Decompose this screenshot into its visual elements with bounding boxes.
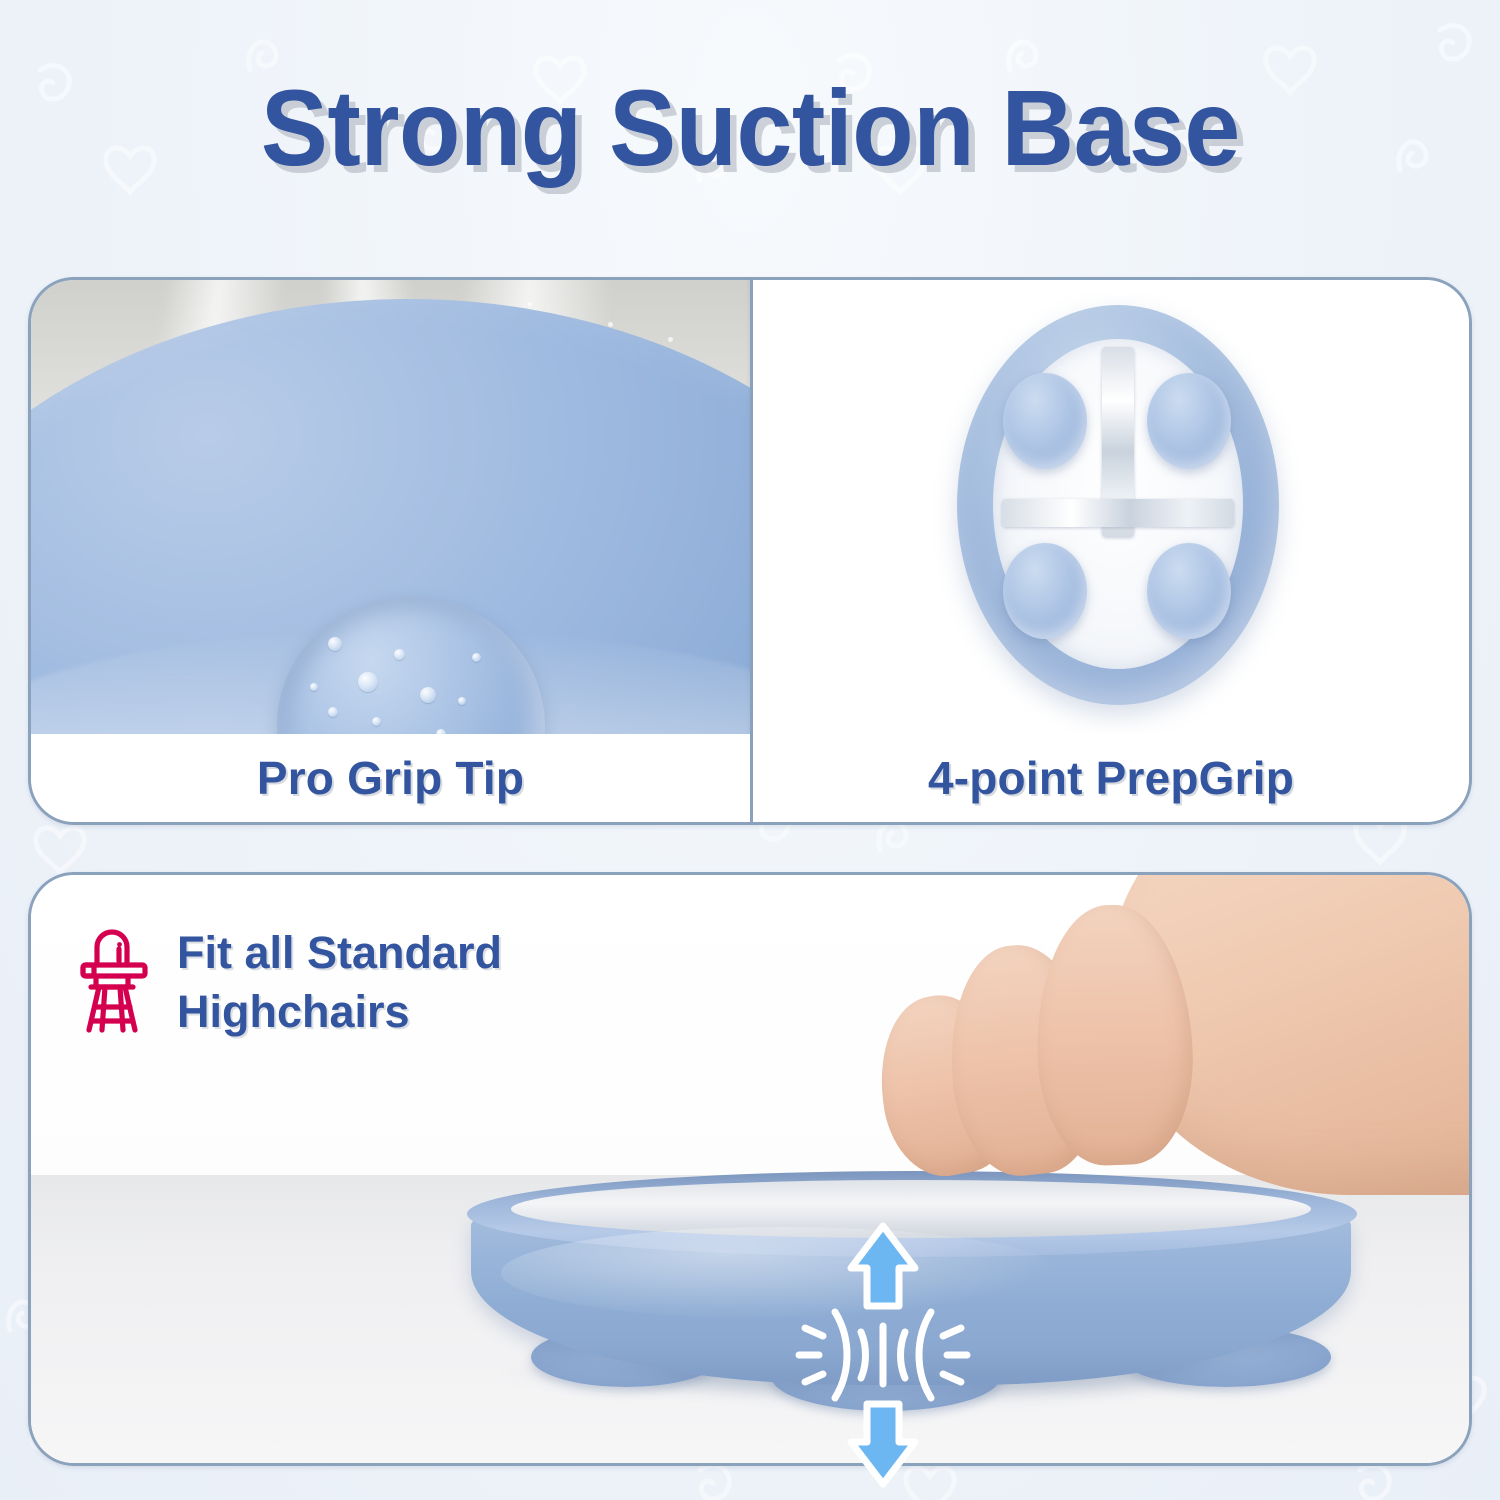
highchair-icon [77,929,151,1038]
feature-line-1: Fit all Standard [177,927,502,978]
panel-pro-grip-tip: Pro Grip Tip [28,277,750,825]
panel-fit-all-highchairs: Fit all Standard Highchairs [28,872,1472,1466]
panel-label-pro-grip-tip: Pro Grip Tip [31,734,750,822]
panel-four-point-prepgrip: 4-point PrepGrip [750,277,1472,825]
page-title-wrap: Strong Suction Base [0,72,1500,184]
infographic-page: Strong Suction Base [0,0,1500,1500]
hand [841,875,1469,1255]
feature-label: Fit all Standard Highchairs [177,923,502,1042]
feature-line-2: Highchairs [177,986,410,1037]
feature-block: Fit all Standard Highchairs [77,923,502,1042]
panel-label-four-point-prepgrip: 4-point PrepGrip [753,734,1469,822]
page-title: Strong Suction Base [261,72,1240,184]
